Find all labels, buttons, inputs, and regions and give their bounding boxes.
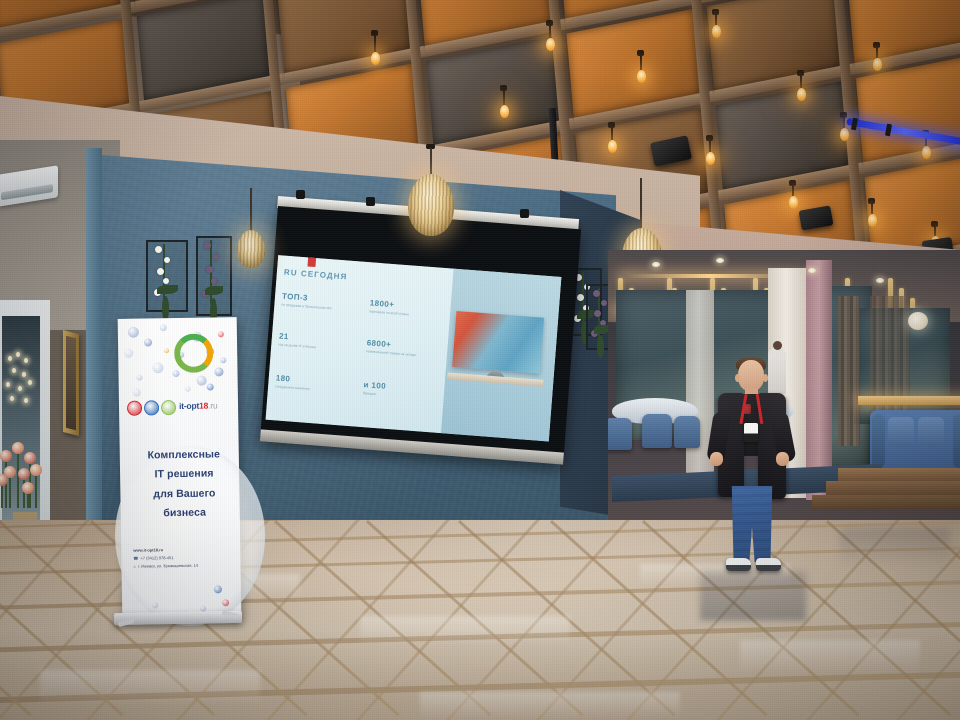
banner-bubble: [124, 349, 133, 358]
bulb-cap: [712, 9, 719, 15]
banner-bubble: [164, 348, 169, 353]
orchid-leaf: [157, 285, 178, 294]
banner-bubble: [197, 376, 207, 386]
banner-bubble: [185, 386, 191, 392]
pillar-pink: [806, 260, 832, 500]
floor-specular-highlight: [40, 670, 260, 706]
ceiling-bulb: [546, 38, 555, 51]
banner-bubble: [144, 338, 152, 346]
brand-main: it-opt: [179, 401, 199, 411]
chandelier-reflection: [24, 358, 28, 363]
presenter-jeans-shading: [730, 486, 774, 562]
ball-pendant-lamp: [908, 312, 928, 330]
logo-circle-blue: [144, 400, 159, 415]
screen-mount: [366, 197, 375, 206]
dining-chair: [674, 416, 700, 448]
orchid-bloom: [213, 254, 219, 260]
presenter-ear: [735, 374, 740, 382]
chandelier-reflection: [16, 352, 20, 357]
bulb-cap: [797, 70, 804, 76]
orchid-leaf: [594, 325, 609, 334]
projection-screen: RU СЕГОДНЯ ТОП-3по продажам в Приволжско…: [260, 206, 581, 465]
bulb-cap: [873, 42, 880, 48]
slide-stat-value: 21: [279, 331, 317, 343]
banner-bubble: [133, 389, 141, 397]
flower-stem: [17, 450, 19, 508]
bulb-cap: [840, 112, 847, 118]
slide-stat-value: и 100: [363, 380, 386, 391]
slide-stat-value: 180: [275, 373, 310, 385]
slide-stat: 21год на рынке IT в России: [278, 331, 317, 350]
banner-contact-text: г. Ижевск, ул. Буммашевская, 14: [138, 562, 198, 571]
banner-brand-text: it-opt18.ru: [179, 400, 218, 411]
pendant-shade: [408, 174, 454, 236]
bulb-cap: [546, 20, 553, 26]
screen-mount: [520, 209, 529, 218]
brand-accent: 18: [199, 401, 208, 411]
ceiling-bulb: [922, 146, 931, 159]
orchid-bloom: [163, 278, 169, 284]
slide-photo-monitor: [452, 311, 544, 374]
banner-contact-row: ⌂г. Ижевск, ул. Буммашевская, 14: [133, 561, 237, 571]
banner-bubble: [152, 602, 158, 608]
banner-logo-row: it-opt18.ru: [127, 399, 231, 415]
slide-brand-mark: [307, 255, 316, 267]
ceiling-bulb: [873, 58, 882, 71]
orchid-leaf: [205, 286, 223, 295]
banner-headline-line-1: Комплексные: [132, 445, 236, 466]
pendant-cord: [430, 148, 432, 176]
chandelier-reflection: [10, 396, 14, 401]
bulb-cap: [868, 198, 875, 204]
pin-icon: ⌂: [133, 563, 136, 571]
chandelier-reflection: [6, 382, 10, 387]
floor-specular-highlight: [420, 692, 680, 720]
chandelier-reflection: [18, 386, 22, 391]
pendant-cord: [640, 178, 642, 230]
banner-headline-line-3: для Вашего бизнеса: [132, 484, 237, 524]
ceiling-bulb: [840, 128, 849, 141]
bulb-rod: [549, 24, 551, 38]
logo-circle-red: [127, 401, 142, 416]
slide-stat: 180сотрудников компании: [275, 373, 311, 392]
flower-arrangement: [0, 440, 44, 525]
step: [812, 495, 960, 510]
orchid-bloom: [593, 290, 600, 297]
bulb-cap: [931, 221, 938, 227]
banner-bubble: [218, 331, 224, 337]
banner-bubble: [160, 324, 167, 331]
ceiling-spotlight: [652, 262, 660, 267]
dining-chair: [642, 414, 672, 448]
chandelier-reflection: [24, 398, 28, 403]
bulb-cap: [637, 50, 644, 56]
presenter-floor-reflection: [700, 572, 806, 620]
orchid-bloom: [206, 266, 213, 273]
curtain: [838, 296, 860, 446]
ceiling-bulb: [608, 140, 617, 153]
flower-stem: [35, 472, 37, 508]
bulb-cap: [706, 135, 713, 141]
bulb-rod: [374, 34, 376, 52]
orchid-frame: [196, 236, 232, 316]
banner-contact-block: www.it-opt18.ru☎+7 (3412) 978-451⌂г. Иже…: [133, 545, 237, 571]
orchid-bloom: [157, 268, 164, 275]
step: [838, 468, 960, 481]
orchid-frame: [146, 240, 188, 312]
roll-up-banner[interactable]: it-opt18.ru Комплексные IT решения для В…: [118, 317, 242, 619]
screen-mount: [296, 190, 305, 199]
orchid-bloom: [204, 242, 211, 249]
ceiling-bulb: [789, 196, 798, 209]
sofa-arm: [953, 414, 960, 468]
bulb-cap: [608, 122, 615, 128]
orchid-leaf: [162, 296, 169, 320]
floor-specular-highlight: [360, 616, 570, 646]
ceiling-spotlight: [808, 268, 816, 273]
framed-painting: [63, 330, 79, 436]
illuminated-counter: [858, 396, 960, 405]
bulb-rod: [503, 89, 505, 105]
ceiling-bulb: [797, 88, 806, 101]
banner-bubble: [207, 383, 214, 390]
curtain: [870, 296, 910, 426]
sofa-cushion: [888, 417, 914, 447]
logo-circle-green: [161, 400, 176, 415]
pendant-shade: [237, 230, 265, 268]
flower: [12, 442, 24, 454]
bulb-cap: [500, 85, 507, 91]
slide-stat: 1800+партнёров по всей стране: [369, 298, 410, 317]
banner-bubble: [152, 362, 163, 373]
flower: [24, 452, 36, 464]
banner-bubble: [137, 375, 143, 381]
presenter: [700, 360, 806, 575]
banner-bubble: [214, 367, 223, 376]
pendant-cord: [250, 188, 252, 232]
ceiling-bulb: [371, 52, 380, 65]
banner-ring-logo: [174, 333, 214, 373]
presenter-hand-right: [776, 452, 789, 466]
flower: [18, 468, 30, 480]
banner-bubble: [128, 327, 139, 338]
ceiling-spotlight: [876, 278, 884, 283]
banner-headline: Комплексные IT решения для Вашего бизнес…: [132, 445, 237, 524]
bulb-rod: [640, 54, 642, 70]
presenter-head: [738, 360, 764, 391]
presenter-shoe-right: [756, 558, 781, 571]
presenter-shoe-left: [726, 558, 751, 571]
banner-bubble: [222, 599, 229, 606]
slide-stat-value: 1800+: [369, 298, 409, 310]
sofa-arm: [872, 414, 885, 468]
ceiling-bulb: [500, 105, 509, 118]
chandelier-reflection: [12, 368, 16, 373]
banner-bubble: [220, 357, 226, 363]
ceiling-bulb: [706, 152, 715, 165]
bulb-cap: [371, 30, 378, 36]
ceiling-bulb: [868, 214, 877, 227]
floor-specular-highlight: [740, 640, 920, 674]
projected-slide: RU СЕГОДНЯ ТОП-3по продажам в Приволжско…: [266, 255, 562, 441]
floor-reflection: [840, 528, 950, 568]
orchid-bloom: [164, 257, 170, 263]
flower: [22, 482, 34, 494]
presenter-hand-left: [710, 452, 723, 466]
dining-chair: [608, 418, 632, 450]
banner-bubble: [214, 585, 222, 593]
step: [826, 481, 960, 495]
flower-stem: [9, 474, 11, 508]
presenter-ear: [763, 374, 768, 382]
chandelier-reflection: [22, 372, 26, 377]
flower: [0, 450, 12, 462]
banner-headline-line-2: IT решения: [132, 465, 236, 486]
bulb-cap: [789, 180, 796, 186]
banner-bubble: [172, 370, 179, 377]
phone-icon: ☎: [133, 555, 138, 563]
bulb-rod: [800, 74, 802, 88]
sofa-cushion: [918, 417, 944, 447]
ceiling-spotlight: [716, 258, 724, 263]
flower: [30, 464, 42, 476]
conference-badge: [744, 423, 758, 442]
brand-suffix: .ru: [208, 400, 217, 410]
conference-hall-photo: RU СЕГОДНЯ ТОП-3по продажам в Приволжско…: [0, 0, 960, 720]
ceiling-bulb: [712, 25, 721, 38]
slide-stat: и 100брендов: [363, 380, 387, 398]
ceiling-bulb: [637, 70, 646, 83]
chandelier-reflection: [28, 380, 32, 385]
bulb-rod: [611, 126, 613, 140]
chandelier-reflection: [8, 356, 12, 361]
